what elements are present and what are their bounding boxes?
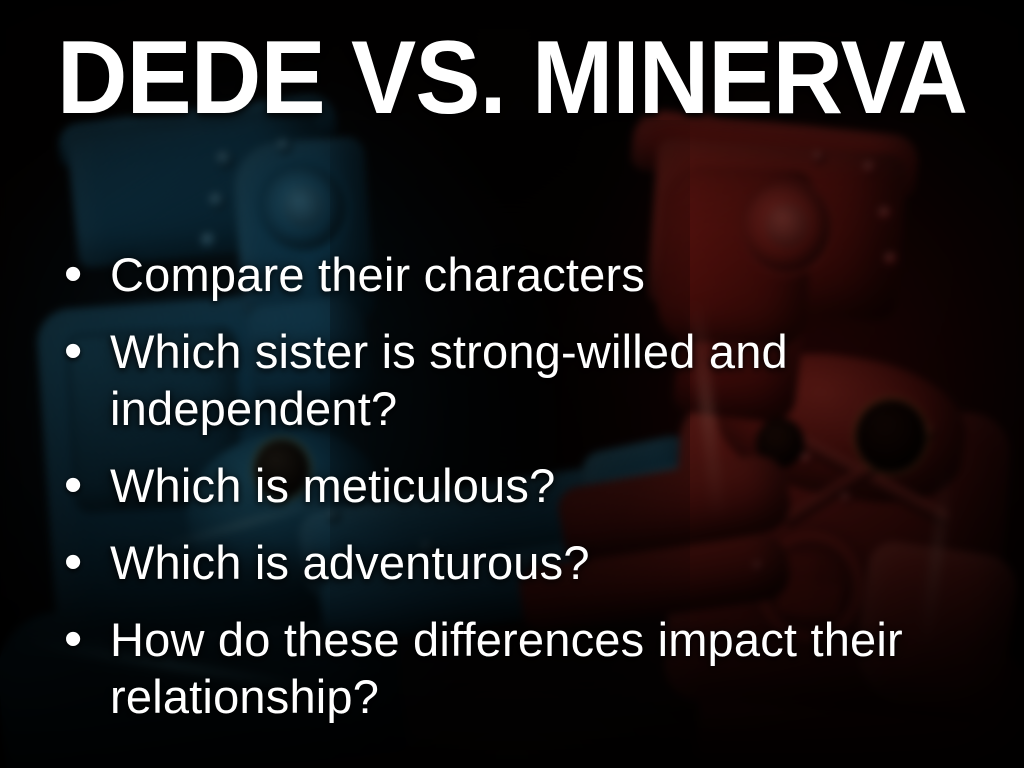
bullet-item-2: • Which sister is strong-willed and inde… <box>56 323 956 437</box>
bullet-text: Compare their characters <box>110 246 956 303</box>
bullet-item-5: • How do these differences impact their … <box>56 611 956 725</box>
bullet-text: Which sister is strong-willed and indepe… <box>110 323 956 437</box>
bullet-marker-icon: • <box>56 323 110 380</box>
bullet-list: • Compare their characters • Which siste… <box>56 246 956 725</box>
bullet-text: Which is adventurous? <box>110 534 956 591</box>
presentation-slide: DEDE VS. MINERVA • Compare their charact… <box>0 0 1024 768</box>
slide-content: DEDE VS. MINERVA • Compare their charact… <box>0 0 1024 768</box>
bullet-text: Which is meticulous? <box>110 457 956 514</box>
bullet-item-4: • Which is adventurous? <box>56 534 956 591</box>
bullet-item-1: • Compare their characters <box>56 246 956 303</box>
bullet-marker-icon: • <box>56 611 110 668</box>
slide-title: DEDE VS. MINERVA <box>31 26 994 130</box>
bullet-marker-icon: • <box>56 457 110 514</box>
bullet-marker-icon: • <box>56 534 110 591</box>
bullet-text: How do these differences impact their re… <box>110 611 956 725</box>
bullet-marker-icon: • <box>56 246 110 303</box>
bullet-item-3: • Which is meticulous? <box>56 457 956 514</box>
